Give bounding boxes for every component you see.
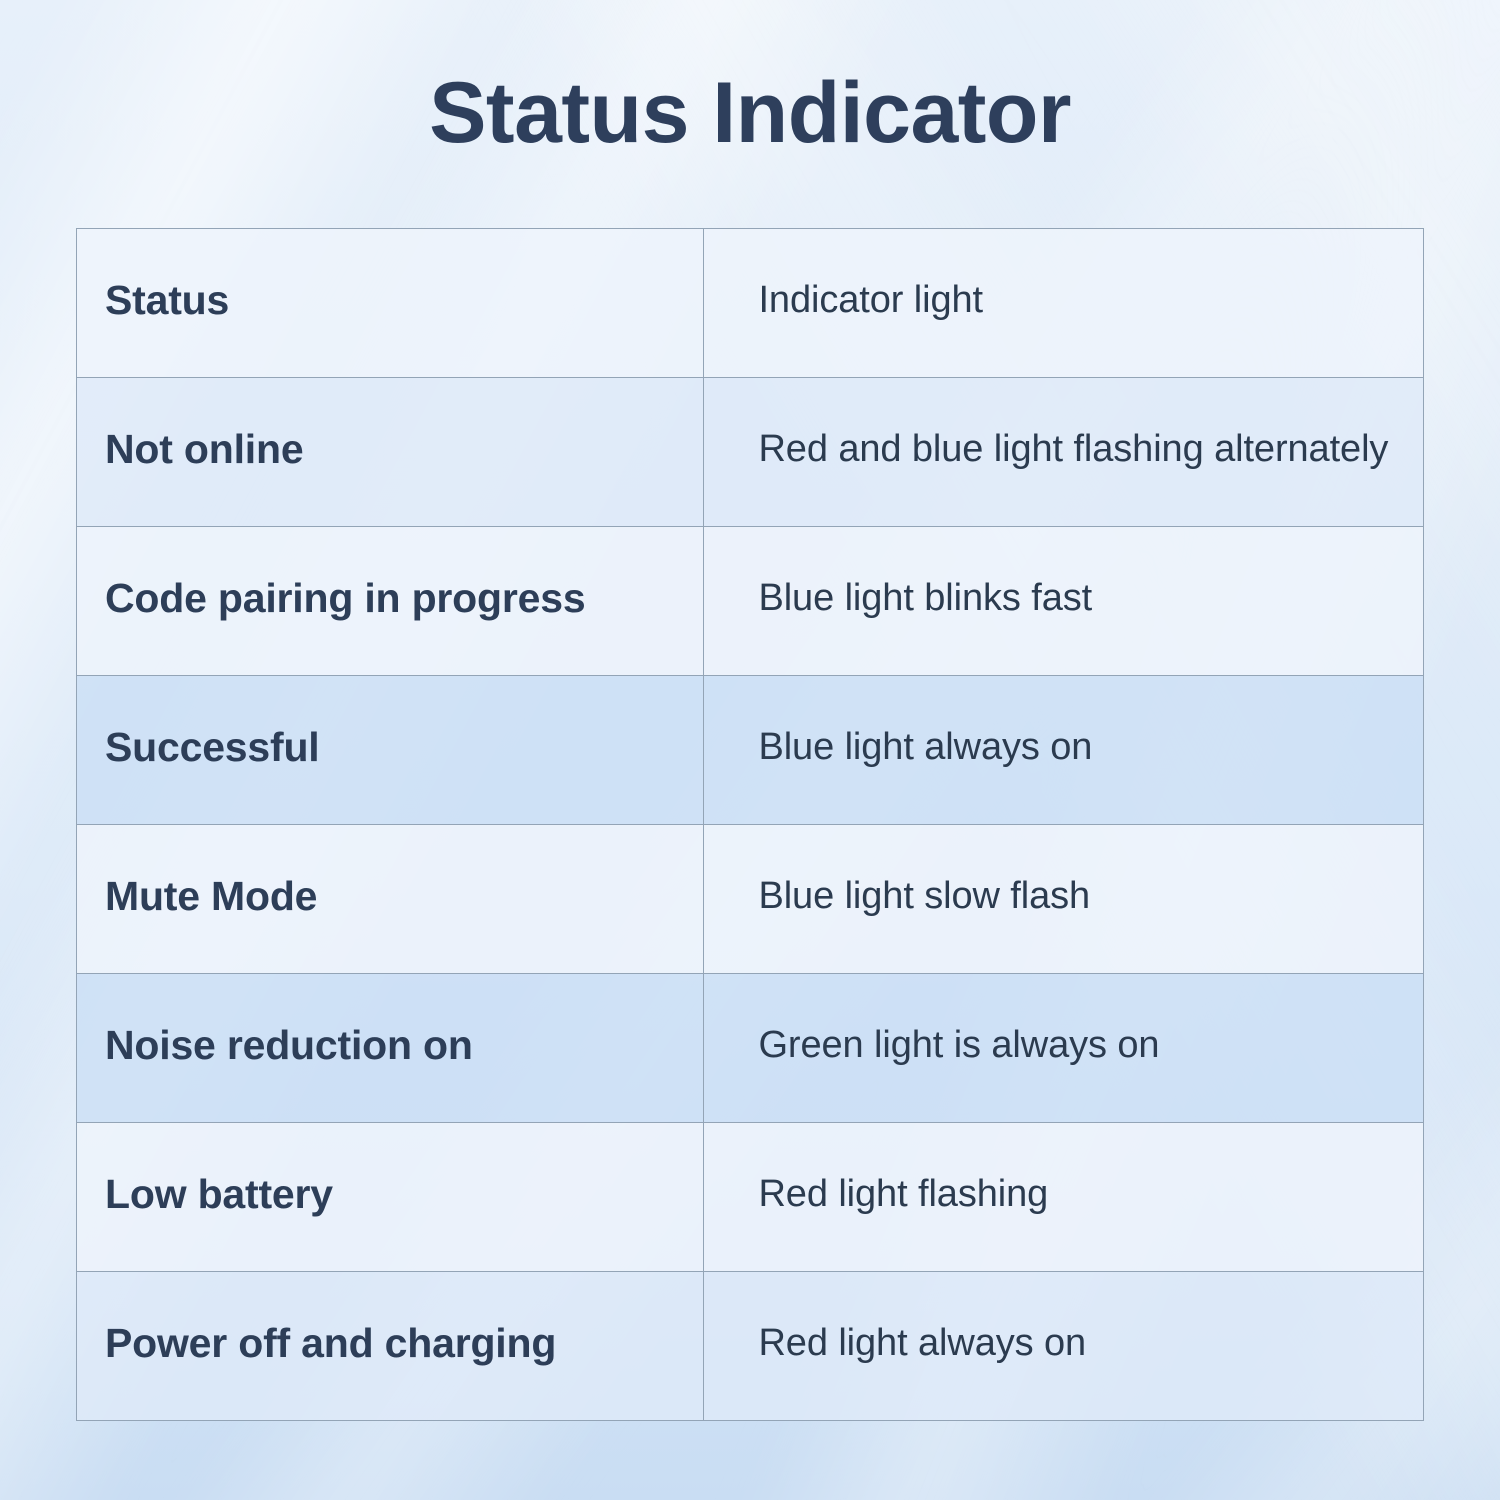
indicator-light-label: Blue light always on <box>704 726 1423 769</box>
status-label: Noise reduction on <box>77 1022 703 1069</box>
cell-status: Not online <box>77 378 704 527</box>
table-header-cell-status: Status <box>77 229 704 378</box>
indicator-light-label: Red light flashing <box>704 1173 1423 1216</box>
indicator-light-label: Green light is always on <box>704 1024 1423 1067</box>
cell-indicator-light: Red light flashing <box>704 1123 1424 1272</box>
cell-indicator-light: Red and blue light flashing alternately <box>704 378 1424 527</box>
table-row: Mute Mode Blue light slow flash <box>77 825 1424 974</box>
status-label: Code pairing in progress <box>77 575 703 622</box>
table-row: Power off and charging Red light always … <box>77 1272 1424 1421</box>
cell-status: Mute Mode <box>77 825 704 974</box>
page-title: Status Indicator <box>0 68 1500 158</box>
table-row: Code pairing in progress Blue light blin… <box>77 527 1424 676</box>
status-indicator-table: Status Indicator light Not online Red an… <box>76 228 1424 1421</box>
cell-status: Low battery <box>77 1123 704 1272</box>
table-header-row: Status Indicator light <box>77 229 1424 378</box>
status-label: Power off and charging <box>77 1320 703 1367</box>
table-header-cell-light: Indicator light <box>704 229 1424 378</box>
indicator-light-label: Blue light blinks fast <box>704 577 1423 620</box>
indicator-light-label: Red light always on <box>704 1322 1423 1365</box>
status-label: Low battery <box>77 1171 703 1218</box>
status-label: Successful <box>77 724 703 771</box>
cell-status: Code pairing in progress <box>77 527 704 676</box>
cell-status: Noise reduction on <box>77 974 704 1123</box>
table-row: Not online Red and blue light flashing a… <box>77 378 1424 527</box>
cell-status: Power off and charging <box>77 1272 704 1421</box>
indicator-light-label: Red and blue light flashing alternately <box>704 428 1423 471</box>
column-header-status: Status <box>77 277 703 324</box>
status-label: Not online <box>77 426 703 473</box>
cell-indicator-light: Blue light blinks fast <box>704 527 1424 676</box>
indicator-light-label: Blue light slow flash <box>704 875 1423 918</box>
cell-indicator-light: Red light always on <box>704 1272 1424 1421</box>
cell-indicator-light: Blue light slow flash <box>704 825 1424 974</box>
cell-indicator-light: Green light is always on <box>704 974 1424 1123</box>
table-row: Successful Blue light always on <box>77 676 1424 825</box>
status-label: Mute Mode <box>77 873 703 920</box>
cell-status: Successful <box>77 676 704 825</box>
column-header-indicator-light: Indicator light <box>704 279 1423 322</box>
table-row: Noise reduction on Green light is always… <box>77 974 1424 1123</box>
cell-indicator-light: Blue light always on <box>704 676 1424 825</box>
table-row: Low battery Red light flashing <box>77 1123 1424 1272</box>
